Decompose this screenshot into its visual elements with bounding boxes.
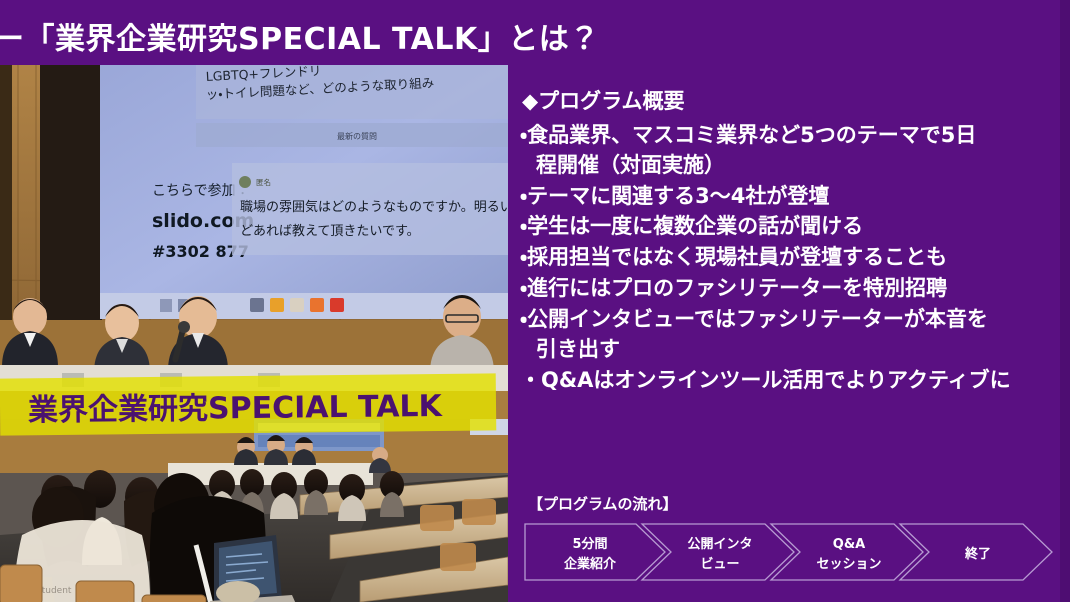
bullet-main: ・Q&Aはオンラインツール活用でよりアクティブに — [520, 368, 1011, 392]
flow-step-3-line2: セッション — [816, 557, 881, 572]
list-item: ・公開インタビューではファシリテーターが本音を 引き出す — [520, 305, 1056, 365]
bullet-main: ・テーマに関連する3〜4社が登壇 — [520, 184, 829, 208]
list-item: ・テーマに関連する3〜4社が登壇 — [520, 182, 1056, 212]
panel-heading: ◆プログラム概要 — [522, 85, 1056, 115]
list-item: ・進行にはプロのファシリテーターを特別招聘 — [520, 274, 1056, 304]
flow-step-3-line1: Q&A — [833, 537, 865, 552]
program-bullet-list: ・食品業界、マスコミ業界など5つのテーマで5日 程開催（対面実施） ・テーマに関… — [520, 121, 1056, 395]
flow-step-1-line2: 企業紹介 — [564, 556, 617, 572]
bullet-main: ・採用担当ではなく現場社員が登壇することも — [520, 245, 947, 269]
lecture-hall-photo: LGBTQ+フレンドリ ッ・トイレ問題など、どのような取り組み 最新の質問 こち… — [0, 65, 508, 602]
list-item: ・採用担当ではなく現場社員が登壇することも — [520, 243, 1056, 273]
svg-text:職場の雰囲気はどのようなものですか。明るい、穏: 職場の雰囲気はどのようなものですか。明るい、穏 — [240, 199, 508, 215]
list-item: ・食品業界、マスコミ業界など5つのテーマで5日 程開催（対面実施） — [520, 121, 1056, 181]
photo-banner-text: 業界企業研究SPECIAL TALK — [28, 380, 442, 428]
svg-text:匿名: 匿名 — [256, 177, 271, 187]
flow-step-4-line1: 終了 — [964, 546, 991, 562]
svg-text:最新の質問: 最新の質問 — [337, 131, 377, 141]
program-flow-diagram: 5分間 企業紹介 公開インタ ビュー Q&A セッション 終了 — [524, 522, 1054, 582]
slide-title-bar: ー「業界企業研究SPECIAL TALK」とは？ — [0, 18, 1070, 62]
list-item: ・Q&Aはオンラインツール活用でよりアクティブに — [520, 366, 1056, 396]
flow-step-2-line2: ビュー — [700, 556, 739, 572]
bullet-main: ・公開インタビューではファシリテーターが本音を — [520, 307, 988, 331]
program-flow-label: 【プログラムの流れ】 — [528, 493, 678, 514]
photo-banner: 業界企業研究SPECIAL TALK — [0, 373, 496, 435]
list-item: ・学生は一度に複数企業の話が聞ける — [520, 212, 1056, 242]
bullet-cont: 引き出す — [520, 335, 1056, 365]
flow-step-1-line1: 5分間 — [572, 536, 607, 552]
bullet-cont: 程開催（対面実施） — [520, 151, 1056, 181]
bullet-main: ・食品業界、マスコミ業界など5つのテーマで5日 — [520, 123, 976, 147]
bullet-main: ・学生は一度に複数企業の話が聞ける — [520, 214, 863, 238]
svg-text:どあれば教えて頂きたいです。: どあれば教えて頂きたいです。 — [240, 223, 420, 239]
bullet-main: ・進行にはプロのファシリテーターを特別招聘 — [520, 276, 947, 300]
slide-root: ー「業界企業研究SPECIAL TALK」とは？ — [0, 0, 1070, 602]
flow-step-2-line1: 公開インタ — [687, 537, 752, 552]
page-title: ー「業界企業研究SPECIAL TALK」とは？ — [0, 25, 600, 55]
